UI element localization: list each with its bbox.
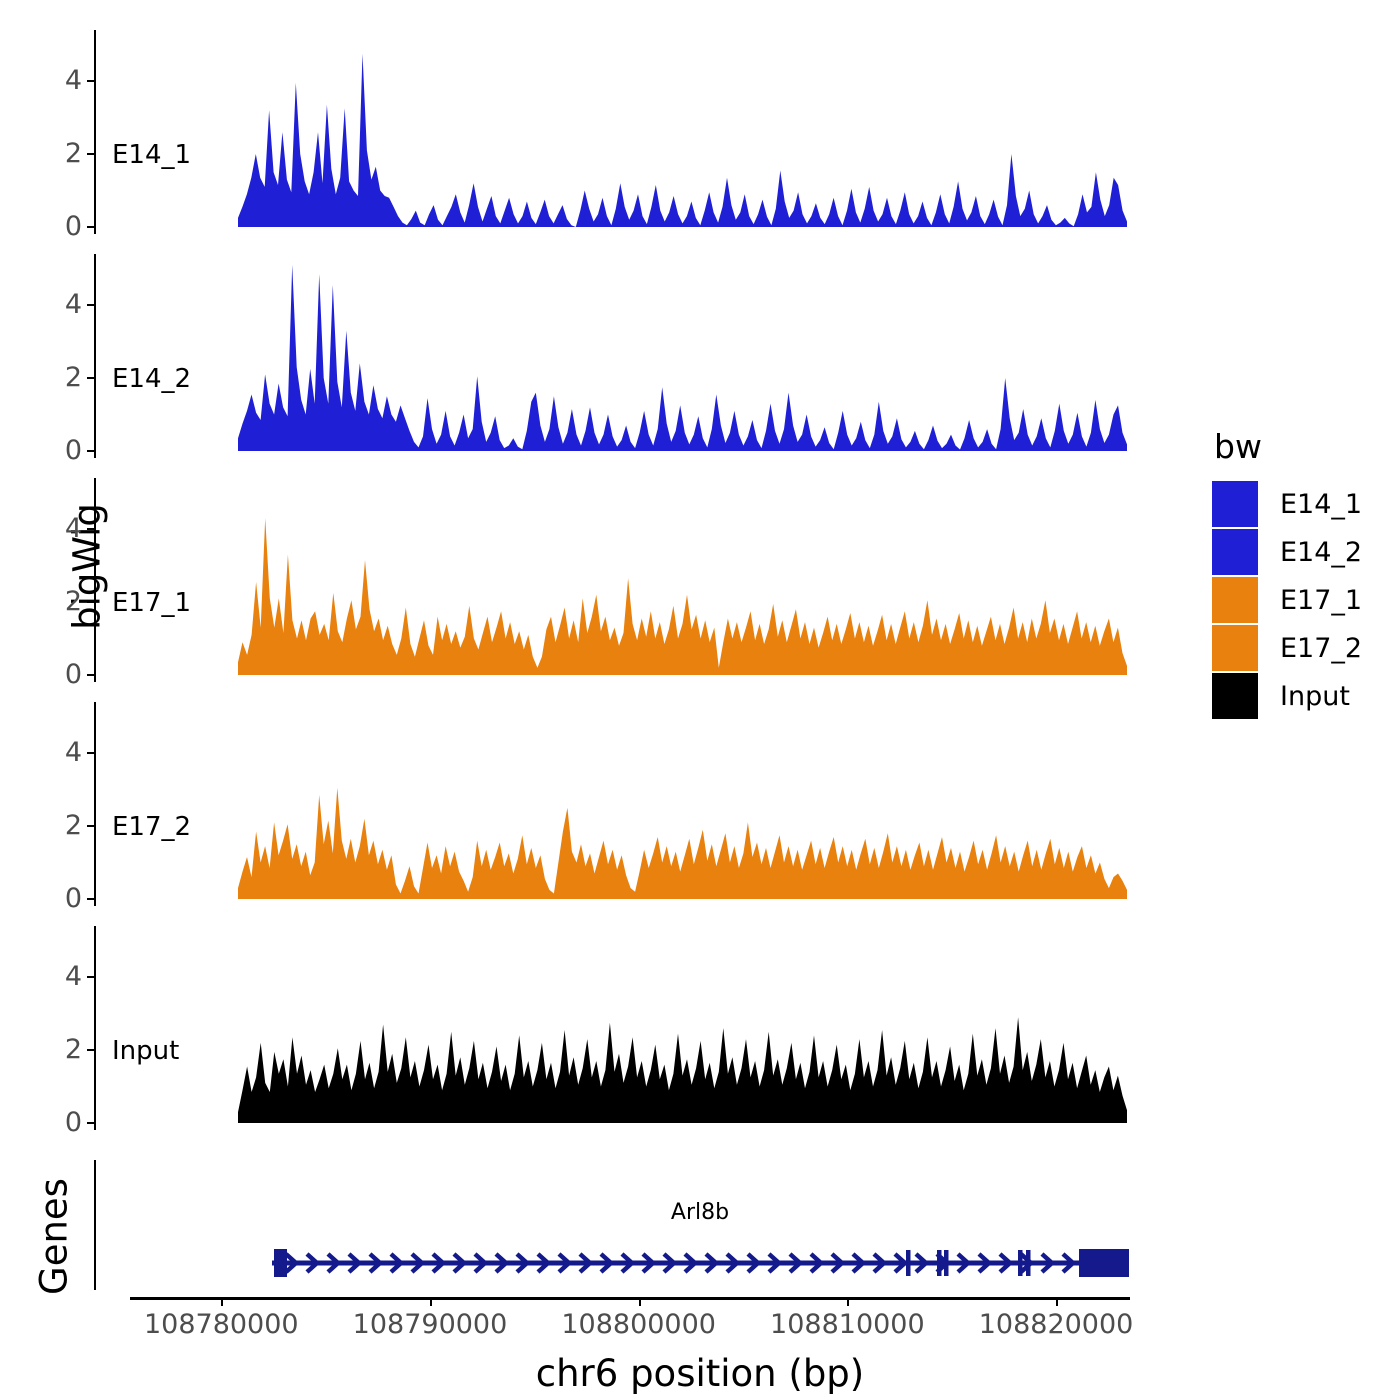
signal-track-input	[0, 926, 1180, 1126]
gene-model	[0, 1233, 1180, 1297]
legend-item-e14_1[interactable]: E14_1	[1212, 480, 1392, 528]
x-tick	[221, 1297, 223, 1306]
x-tick	[847, 1297, 849, 1306]
legend-items: E14_1E14_2E17_1E17_2Input	[1212, 480, 1392, 720]
legend-title: bw	[1214, 430, 1392, 463]
signal-track-e17_2	[0, 702, 1180, 902]
legend-swatch-e17_1	[1212, 577, 1258, 623]
legend-label: E17_1	[1280, 587, 1362, 614]
x-tick	[430, 1297, 432, 1306]
x-tick	[1056, 1297, 1058, 1306]
legend-item-e17_2[interactable]: E17_2	[1212, 624, 1392, 672]
x-tick-label: 108780000	[111, 1310, 331, 1340]
gene-name-label: Arl8b	[600, 1200, 800, 1225]
legend-swatch-input	[1212, 673, 1258, 719]
signal-track-e14_2	[0, 254, 1180, 454]
legend-label: E17_2	[1280, 635, 1362, 662]
x-axis-line	[130, 1297, 1130, 1300]
x-tick-label: 108820000	[946, 1310, 1166, 1340]
legend-swatch-e14_1	[1212, 481, 1258, 527]
x-tick-label: 108790000	[320, 1310, 540, 1340]
x-tick	[639, 1297, 641, 1306]
signal-track-e17_1	[0, 478, 1180, 678]
signal-track-e14_1	[0, 30, 1180, 230]
legend-label: E14_1	[1280, 491, 1362, 518]
legend: bw E14_1E14_2E17_1E17_2Input	[1212, 430, 1392, 720]
legend-item-e14_2[interactable]: E14_2	[1212, 528, 1392, 576]
legend-item-e17_1[interactable]: E17_1	[1212, 576, 1392, 624]
x-tick-label: 108800000	[529, 1310, 749, 1340]
x-axis-title: chr6 position (bp)	[0, 1352, 1400, 1395]
legend-item-input[interactable]: Input	[1212, 672, 1392, 720]
figure-canvas: bigWig Genes 024E14_1024E14_2024E17_1024…	[0, 0, 1400, 1400]
legend-label: Input	[1280, 683, 1350, 710]
legend-label: E14_2	[1280, 539, 1362, 566]
x-tick-label: 108810000	[737, 1310, 957, 1340]
legend-swatch-e17_2	[1212, 625, 1258, 671]
legend-swatch-e14_2	[1212, 529, 1258, 575]
